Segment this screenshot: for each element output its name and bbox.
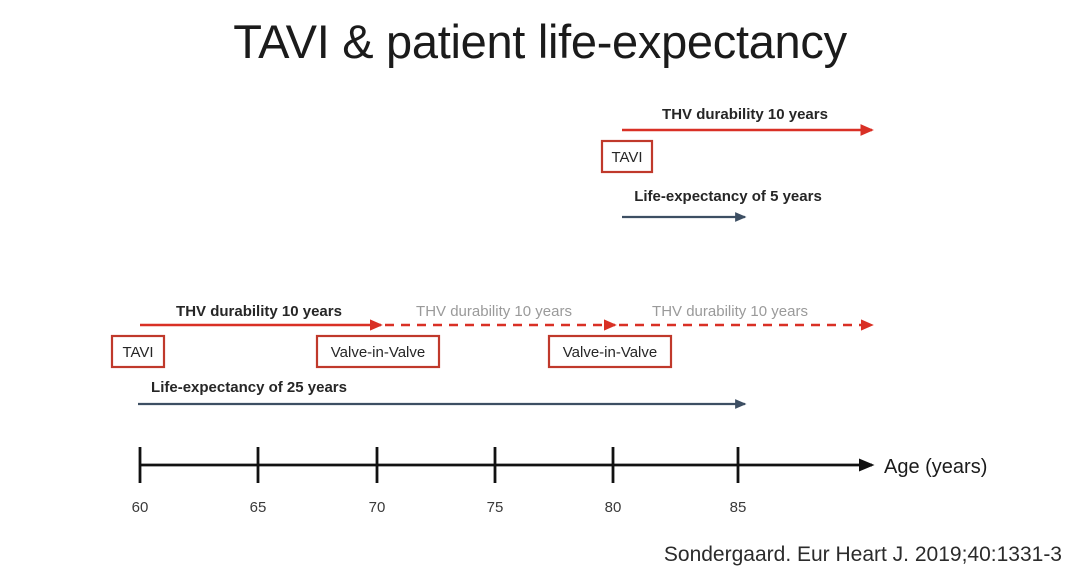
bottom-durability-label-0: THV durability 10 years <box>176 303 342 320</box>
citation-reference: Sondergaard. Eur Heart J. 2019;40:1331-3 <box>664 543 1062 567</box>
slide-canvas: TAVI & patient life-expectancy THV durab… <box>0 0 1080 579</box>
bottom-event-box-viv-2-label: Valve-in-Valve <box>563 344 657 361</box>
axis-tick-label-65: 65 <box>250 499 267 516</box>
top-event-box-tavi-label: TAVI <box>611 149 642 166</box>
top-durability-label-0: THV durability 10 years <box>662 106 828 123</box>
bottom-durability-label-2: THV durability 10 years <box>652 303 808 320</box>
axis-tick-label-75: 75 <box>487 499 504 516</box>
age-axis: 60 65 70 75 80 85 Age (years) <box>132 447 988 516</box>
scenario-top: THV durability 10 years TAVI Life-expect… <box>602 106 872 217</box>
axis-title: Age (years) <box>884 456 987 478</box>
axis-tick-label-85: 85 <box>730 499 747 516</box>
axis-tick-label-80: 80 <box>605 499 622 516</box>
timeline-diagram: THV durability 10 years TAVI Life-expect… <box>0 0 1080 579</box>
bottom-event-box-viv-1-label: Valve-in-Valve <box>331 344 425 361</box>
bottom-life-expectancy-label: Life-expectancy of 25 years <box>151 379 347 396</box>
top-life-expectancy-label: Life-expectancy of 5 years <box>634 188 822 205</box>
axis-tick-label-70: 70 <box>369 499 386 516</box>
bottom-event-box-tavi-label: TAVI <box>122 344 153 361</box>
axis-tick-label-60: 60 <box>132 499 149 516</box>
bottom-durability-label-1: THV durability 10 years <box>416 303 572 320</box>
scenario-bottom: THV durability 10 years THV durability 1… <box>112 303 872 404</box>
